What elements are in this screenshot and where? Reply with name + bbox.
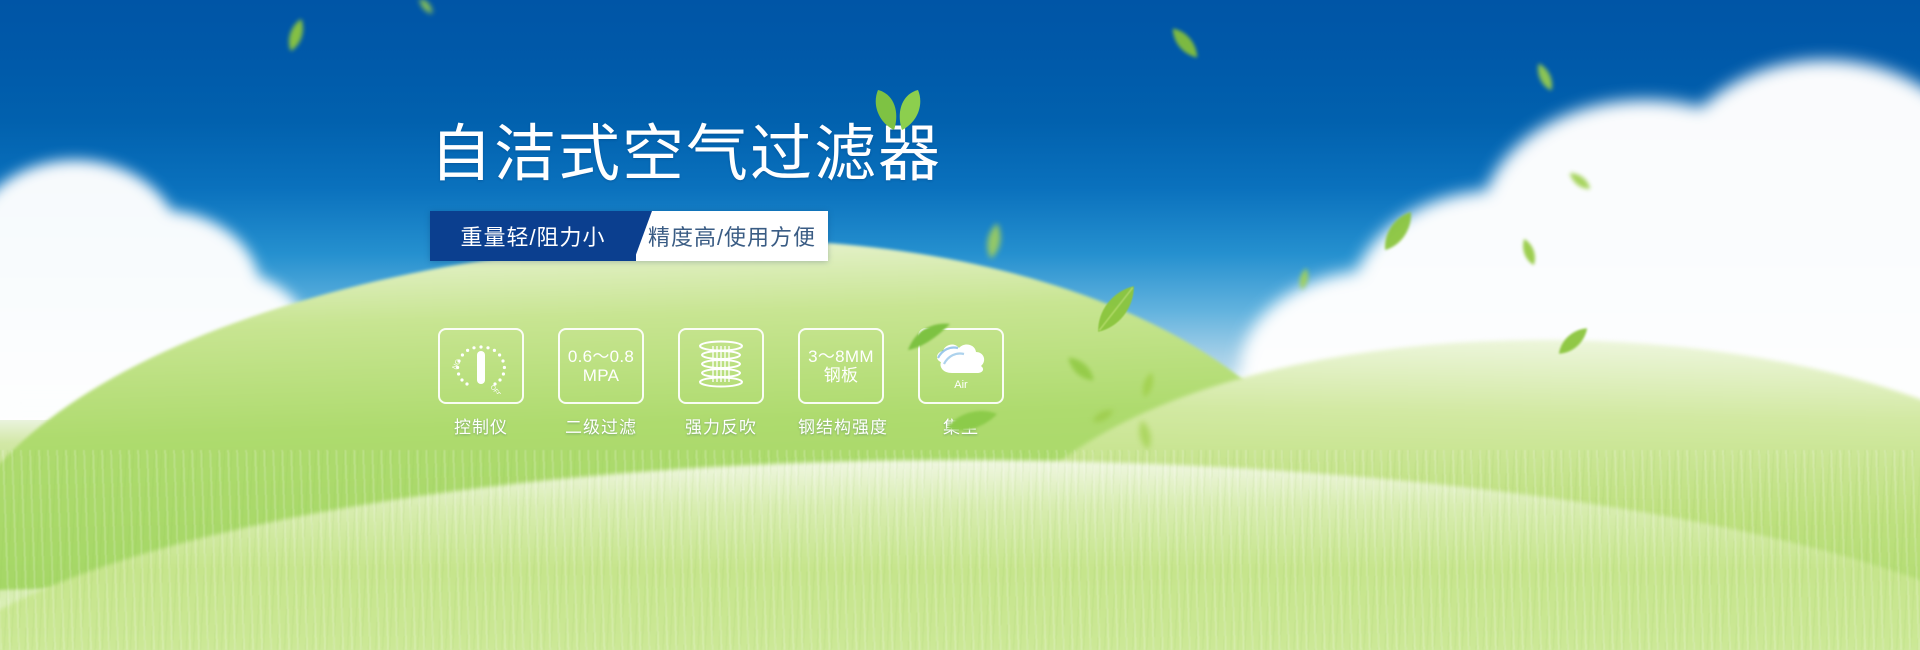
filter-cartridge-icon <box>694 338 748 394</box>
banner-content: 自洁式空气过滤器 重量轻/阻力小 精度高/使用方便 <box>430 122 1150 261</box>
feature-icon-box: 0.6～0.8 MPA <box>558 328 644 404</box>
air-label: Air <box>954 379 968 391</box>
pressure-value-icon: 0.6～0.8 MPA <box>568 347 634 385</box>
subtitle-left: 重量轻/阻力小 <box>430 211 636 261</box>
leaf-icon <box>946 408 998 434</box>
feature-item-dust[interactable]: Air 集尘 <box>918 328 1004 438</box>
subtitle-right: 精度高/使用方便 <box>636 211 828 261</box>
promo-banner: 自洁式空气过滤器 重量轻/阻力小 精度高/使用方便 <box>0 0 1920 650</box>
title-wrap: 自洁式空气过滤器 <box>430 122 942 189</box>
feature-icon-box: NO OFF <box>438 328 524 404</box>
feature-caption: 强力反吹 <box>678 413 764 438</box>
feature-item-backblow[interactable]: 强力反吹 <box>678 328 764 438</box>
feature-item-control[interactable]: NO OFF 控制仪 <box>438 328 524 438</box>
leaf-icon <box>906 322 952 352</box>
steel-plate-value-icon: 3～8MM 钢板 <box>808 347 874 385</box>
feature-caption: 控制仪 <box>438 413 524 438</box>
feature-caption: 钢结构强度 <box>798 413 884 438</box>
grass-texture <box>0 450 1920 650</box>
feature-list: NO OFF 控制仪 0.6～0.8 MPA 二级过滤 <box>438 328 1004 438</box>
gauge-dial-icon: NO OFF <box>450 338 512 394</box>
feature-icon-box: 3～8MM 钢板 <box>798 328 884 404</box>
feature-item-steel[interactable]: 3～8MM 钢板 钢结构强度 <box>798 328 884 438</box>
feature-item-pressure[interactable]: 0.6～0.8 MPA 二级过滤 <box>558 328 644 438</box>
title-leaf-icon <box>868 88 928 130</box>
feature-icon-box: Air <box>918 328 1004 404</box>
subtitle-bar: 重量轻/阻力小 精度高/使用方便 <box>430 211 828 261</box>
page-title: 自洁式空气过滤器 <box>430 122 942 189</box>
gauge-label-off: OFF <box>488 384 502 394</box>
feature-caption: 二级过滤 <box>558 413 644 438</box>
gauge-label-no: NO <box>452 358 463 371</box>
feature-icon-box <box>678 328 764 404</box>
